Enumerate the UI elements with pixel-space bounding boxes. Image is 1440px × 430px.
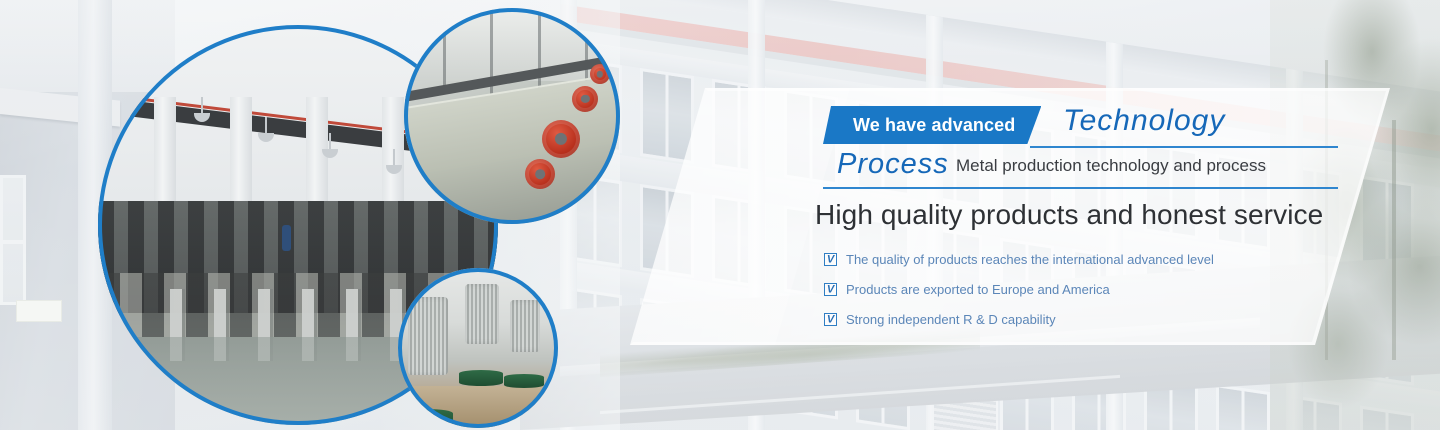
checkbox-checked-icon	[824, 283, 837, 296]
technology-keyword: Technology	[1063, 104, 1225, 138]
list-item: Strong independent R & D capability	[824, 311, 1214, 328]
checkbox-checked-icon	[824, 313, 837, 326]
process-keyword: Process	[837, 148, 949, 181]
technology-row: We have advanced Technology	[823, 106, 1338, 144]
checkbox-checked-icon	[824, 253, 837, 266]
process-row: Process Metal production technology and …	[823, 152, 1338, 186]
list-item: Products are exported to Europe and Amer…	[824, 281, 1214, 298]
process-underline	[823, 187, 1338, 189]
list-item-label: The quality of products reaches the inte…	[846, 252, 1214, 267]
banner-content: We have advanced Technology Process Meta…	[0, 0, 1440, 430]
feature-list: The quality of products reaches the inte…	[824, 251, 1214, 341]
technology-underline	[1030, 146, 1338, 148]
list-item-label: Products are exported to Europe and Amer…	[846, 282, 1110, 297]
promo-banner: We have advanced Technology Process Meta…	[0, 0, 1440, 430]
list-item: The quality of products reaches the inte…	[824, 251, 1214, 268]
advanced-tag: We have advanced	[823, 106, 1041, 144]
process-description: Metal production technology and process	[956, 156, 1266, 176]
page-title: High quality products and honest service	[815, 199, 1323, 231]
list-item-label: Strong independent R & D capability	[846, 312, 1056, 327]
